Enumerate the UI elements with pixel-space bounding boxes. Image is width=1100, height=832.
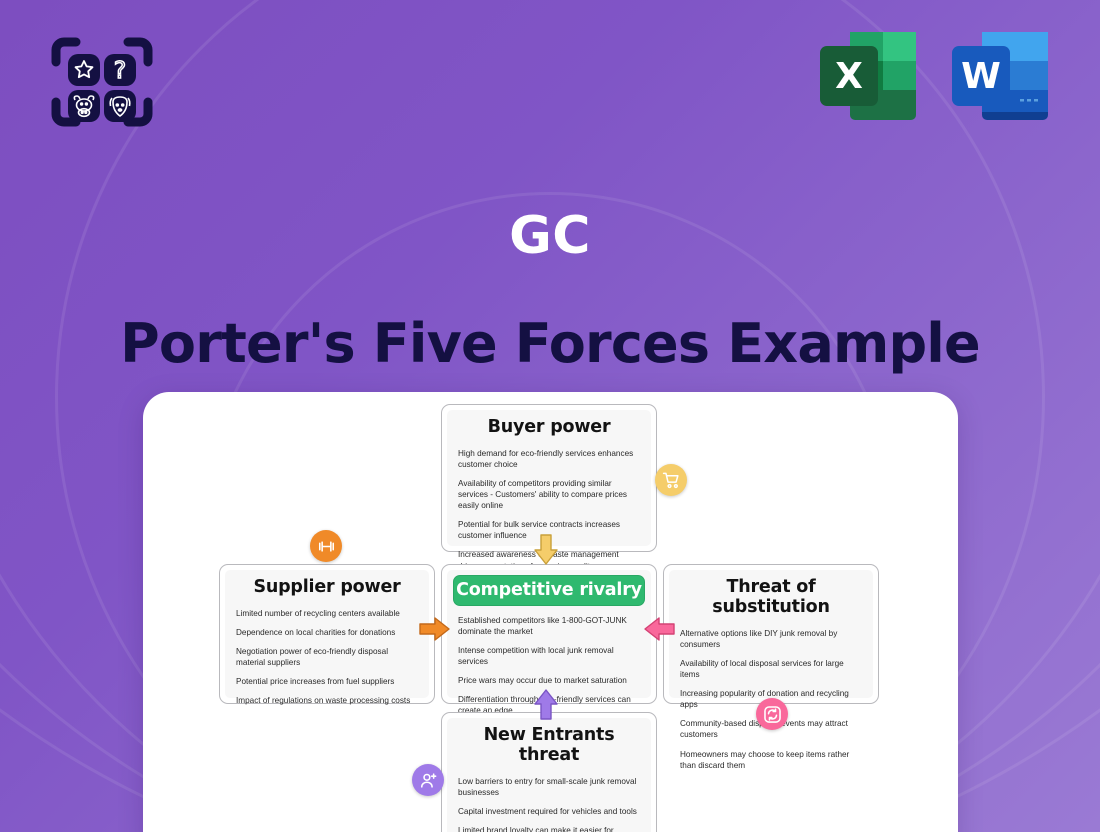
page-title: Porter's Five Forces Example: [0, 312, 1100, 375]
add-user-icon[interactable]: [412, 764, 444, 796]
list-item: Homeowners may choose to keep items rath…: [680, 749, 862, 771]
force-box-supplier[interactable]: Supplier power Limited number of recycli…: [219, 564, 435, 704]
scan-grid-logo[interactable]: ?: [48, 32, 156, 132]
dog-icon: [104, 90, 136, 122]
force-title-rivalry: Competitive rivalry: [453, 575, 645, 606]
force-title-buyer: Buyer power: [458, 417, 640, 437]
list-item: Dependence on local charities for donati…: [236, 627, 418, 638]
force-box-substitution[interactable]: Threat of substitution Alternative optio…: [663, 564, 879, 704]
list-item: Negotiation power of eco-friendly dispos…: [236, 646, 418, 668]
list-item: Potential price increases from fuel supp…: [236, 676, 418, 687]
svg-text:W: W: [961, 56, 1001, 97]
list-item: Impact of regulations on waste processin…: [236, 695, 418, 706]
list-item: Limited number of recycling centers avai…: [236, 608, 418, 619]
shopping-cart-icon[interactable]: [655, 464, 687, 496]
force-title-substitution: Threat of substitution: [680, 577, 862, 617]
force-title-entrants: New Entrants threat: [458, 725, 640, 765]
cow-icon: [68, 90, 100, 122]
word-icon[interactable]: W: [948, 26, 1052, 126]
list-item: Intense competition with local junk remo…: [458, 645, 640, 667]
dumbbell-icon[interactable]: [310, 530, 342, 562]
force-box-rivalry[interactable]: Competitive rivalry Established competit…: [441, 564, 657, 704]
force-box-entrants[interactable]: New Entrants threat Low barriers to entr…: [441, 712, 657, 832]
brand-logo-text: GC: [0, 206, 1100, 266]
list-item: Capital investment required for vehicles…: [458, 806, 640, 817]
svg-text:?: ?: [114, 58, 126, 84]
force-box-buyer[interactable]: Buyer power High demand for eco-friendly…: [441, 404, 657, 552]
star-icon: [68, 54, 100, 86]
list-item: Alternative options like DIY junk remova…: [680, 628, 862, 650]
excel-icon[interactable]: X: [816, 26, 920, 126]
force-title-supplier: Supplier power: [236, 577, 418, 597]
refresh-cycle-icon[interactable]: [756, 698, 788, 730]
list-item: Availability of local disposal services …: [680, 658, 862, 680]
list-item: Limited brand loyalty can make it easier…: [458, 825, 640, 832]
list-item: High demand for eco-friendly services en…: [458, 448, 640, 470]
slide-canvas: ?: [0, 0, 1100, 832]
office-app-icons: X W: [816, 26, 1052, 126]
force-points-supplier: Limited number of recycling centers avai…: [236, 608, 418, 706]
list-item: Low barriers to entry for small-scale ju…: [458, 776, 640, 798]
list-item: Price wars may occur due to market satur…: [458, 675, 640, 686]
force-points-entrants: Low barriers to entry for small-scale ju…: [458, 776, 640, 832]
list-item: Availability of competitors providing si…: [458, 478, 640, 511]
diagram-card: Buyer power High demand for eco-friendly…: [143, 392, 958, 832]
list-item: Established competitors like 1-800-GOT-J…: [458, 615, 640, 637]
svg-text:X: X: [835, 56, 863, 97]
